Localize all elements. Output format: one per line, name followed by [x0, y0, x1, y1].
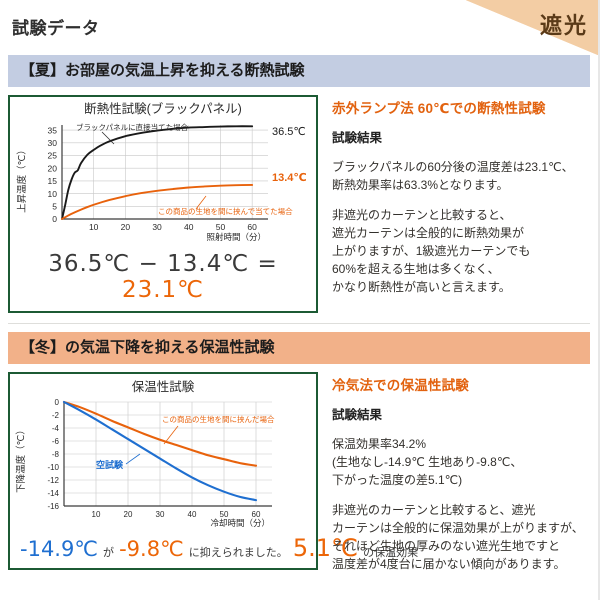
result-para-summer-2: 非遮光のカーテンと比較すると、 遮光カーテンは全般的に断熱効果が 上がりますが、…	[332, 206, 586, 296]
section-header-winter: 【冬】の気温下降を抑える保温性試験	[8, 332, 590, 364]
formula-minus: −	[139, 251, 159, 277]
annotation-blank-test: 空試験	[96, 459, 124, 470]
section-body-summer: 断熱性試験(ブラックパネル) 上昇温度（℃） 05101520253035 10…	[8, 95, 590, 313]
chart-title: 保温性試験	[132, 379, 195, 394]
x-tick-label: 20	[124, 510, 133, 519]
y-tick-label: 0	[55, 398, 60, 407]
section-header-summer: 【夏】お部屋の気温上昇を抑える断熱試験	[8, 55, 590, 87]
chart-xlabel: 照射時間（分）	[206, 232, 266, 242]
formula-summer: 36.5℃ − 13.4℃ = 23.1℃	[10, 247, 316, 311]
result-subheading-summer: 試験結果	[332, 127, 586, 146]
formula-right: 13.4℃	[167, 251, 249, 277]
y-tick-label: 25	[48, 151, 58, 161]
page-header: 遮光 試験データ	[0, 0, 598, 55]
y-tick-label: 30	[48, 138, 58, 148]
x-tick-label: 10	[92, 510, 101, 519]
ribbon-label: 遮光	[540, 8, 588, 40]
formula-equals: =	[258, 251, 278, 277]
x-tick-label: 30	[156, 510, 165, 519]
chart-ylabel: 下降温度（℃）	[15, 425, 27, 493]
y-tick-label: -8	[52, 450, 60, 459]
chart-xlabel: 冷却時間（分）	[210, 518, 270, 528]
x-tick-label: 50	[216, 222, 226, 232]
y-tick-label: -4	[52, 424, 60, 433]
text-column-summer: 赤外ランプ法 60℃での断熱性試験 試験結果 ブラックパネルの60分後の温度差は…	[318, 95, 590, 296]
x-tick-label: 60	[247, 222, 257, 232]
x-tick-label: 40	[188, 510, 197, 519]
end-label-orange: 13.4℃	[272, 172, 307, 184]
x-tick-label: 20	[121, 222, 131, 232]
x-tick-label: 30	[152, 222, 162, 232]
formula-left: 36.5℃	[48, 251, 130, 277]
y-tick-label: -16	[47, 502, 59, 511]
y-tick-label: 0	[52, 214, 57, 224]
y-tick-label: -12	[47, 476, 59, 485]
chart-yticks: 0-2-4-6-8-10-12-14-16	[47, 398, 59, 511]
y-tick-label: 10	[48, 189, 58, 199]
chart-box-retention: 保温性試験 下降温度（℃） 0-2-4-6-8-10-12-14-16 1020…	[8, 372, 318, 570]
formula-result: 23.1℃	[122, 277, 204, 303]
chart-yticks: 05101520253035	[48, 125, 58, 224]
result-para-summer-1: ブラックパネルの60分後の温度差は23.1℃、 断熱効果率は63.3%となります…	[332, 158, 586, 194]
y-tick-label: 20	[48, 163, 58, 173]
end-label-black: 36.5℃	[272, 126, 306, 138]
result-heading-winter: 冷気法での保温性試験	[332, 374, 586, 394]
chart-xticks: 102030405060	[89, 222, 257, 232]
x-tick-label: 40	[184, 222, 194, 232]
annotation-fabric: この商品の生地を間に挟んで当てた場合	[158, 206, 293, 216]
y-tick-label: -14	[47, 489, 59, 498]
formula-value-with: -9.8℃	[119, 537, 184, 561]
annotation-fabric: この商品の生地を間に挟んだ場合	[162, 414, 275, 424]
y-tick-label: 35	[48, 125, 58, 135]
chart-box-insulation: 断熱性試験(ブラックパネル) 上昇温度（℃） 05101520253035 10…	[8, 95, 318, 313]
chart-insulation: 断熱性試験(ブラックパネル) 上昇温度（℃） 05101520253035 10…	[10, 97, 316, 247]
page-title: 試験データ	[12, 14, 100, 39]
test-data-page: 遮光 試験データ 【夏】お部屋の気温上昇を抑える断熱試験 断熱性試験(ブラックパ…	[0, 0, 600, 600]
text-column-winter: 冷気法での保温性試験 試験結果 保温効果率34.2% (生地なし-14.9℃ 生…	[318, 372, 590, 573]
chart-retention: 保温性試験 下降温度（℃） 0-2-4-6-8-10-12-14-16 1020…	[10, 374, 316, 532]
formula-winter: -14.9℃ が -9.8℃ に抑えられました。 5.1℃ の保温効果	[10, 532, 316, 568]
formula-value-without: -14.9℃	[20, 537, 98, 561]
formula-conj: が	[103, 546, 114, 559]
chart-ylabel: 上昇温度（℃）	[16, 145, 28, 213]
annotation-black-panel: ブラックパネルに直接当てた場合	[76, 122, 189, 132]
y-tick-label: 5	[52, 201, 57, 211]
x-tick-label: 10	[89, 222, 99, 232]
formula-mid-text: に抑えられました。	[189, 546, 288, 559]
y-tick-label: -2	[52, 411, 60, 420]
y-tick-label: 15	[48, 176, 58, 186]
result-para-winter-2: 非遮光のカーテンと比較すると、遮光 カーテンは全般的に保温効果が上がりますが、 …	[332, 501, 586, 573]
result-heading-summer: 赤外ランプ法 60℃での断熱性試験	[332, 97, 586, 117]
y-tick-label: -10	[47, 463, 59, 472]
result-subheading-winter: 試験結果	[332, 404, 586, 423]
result-para-winter-1: 保温効果率34.2% (生地なし-14.9℃ 生地あり-9.8℃、 下がった温度…	[332, 435, 586, 489]
y-tick-label: -6	[52, 437, 60, 446]
chart-title: 断熱性試験(ブラックパネル)	[84, 101, 242, 116]
section-body-winter: 保温性試験 下降温度（℃） 0-2-4-6-8-10-12-14-16 1020…	[8, 372, 590, 573]
